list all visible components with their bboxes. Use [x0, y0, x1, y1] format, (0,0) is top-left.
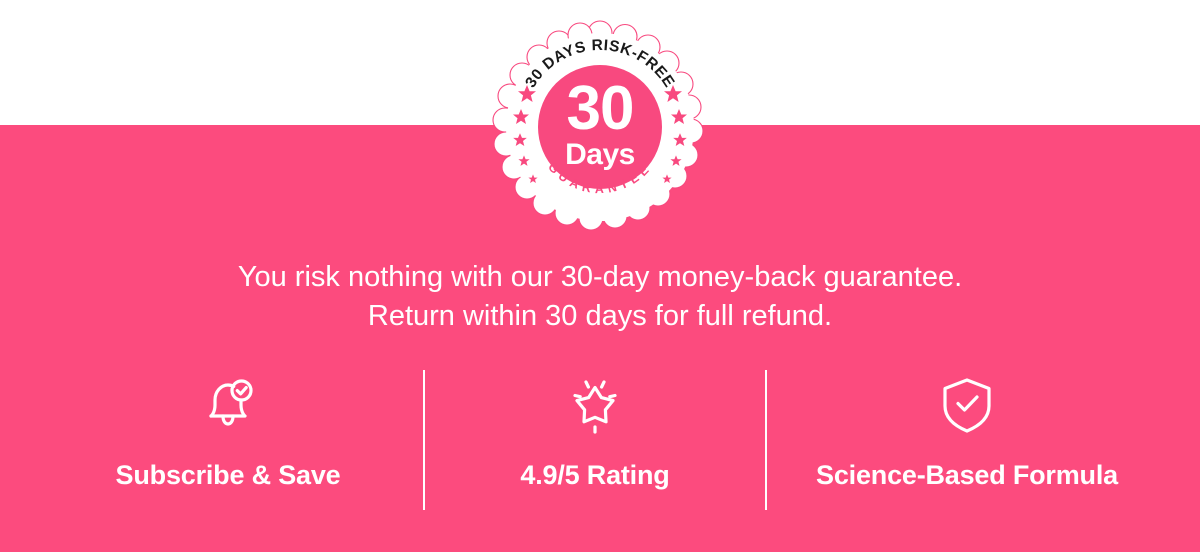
headline: You risk nothing with our 30-day money-b… — [0, 258, 1200, 336]
feature-label: Subscribe & Save — [116, 460, 341, 491]
feature-science-formula: Science-Based Formula — [767, 362, 1167, 491]
bell-check-icon — [195, 362, 261, 448]
feature-rating: 4.9/5 Rating — [425, 362, 765, 491]
feature-label: Science-Based Formula — [816, 460, 1118, 491]
headline-line-2: Return within 30 days for full refund. — [0, 297, 1200, 336]
feature-subscribe-save: Subscribe & Save — [33, 362, 423, 491]
headline-line-1: You risk nothing with our 30-day money-b… — [0, 258, 1200, 297]
guarantee-seal: 30 DAYS RISK-FREE GUARANTEE — [495, 22, 705, 232]
star-sparkle-icon — [560, 362, 630, 448]
feature-row: Subscribe & Save 4.9/5 Rating — [0, 362, 1200, 517]
guarantee-banner: 30 DAYS RISK-FREE GUARANTEE — [0, 0, 1200, 552]
seal-graphic: 30 DAYS RISK-FREE GUARANTEE — [495, 22, 705, 232]
feature-label: 4.9/5 Rating — [520, 460, 669, 491]
shield-check-icon — [934, 362, 1000, 448]
